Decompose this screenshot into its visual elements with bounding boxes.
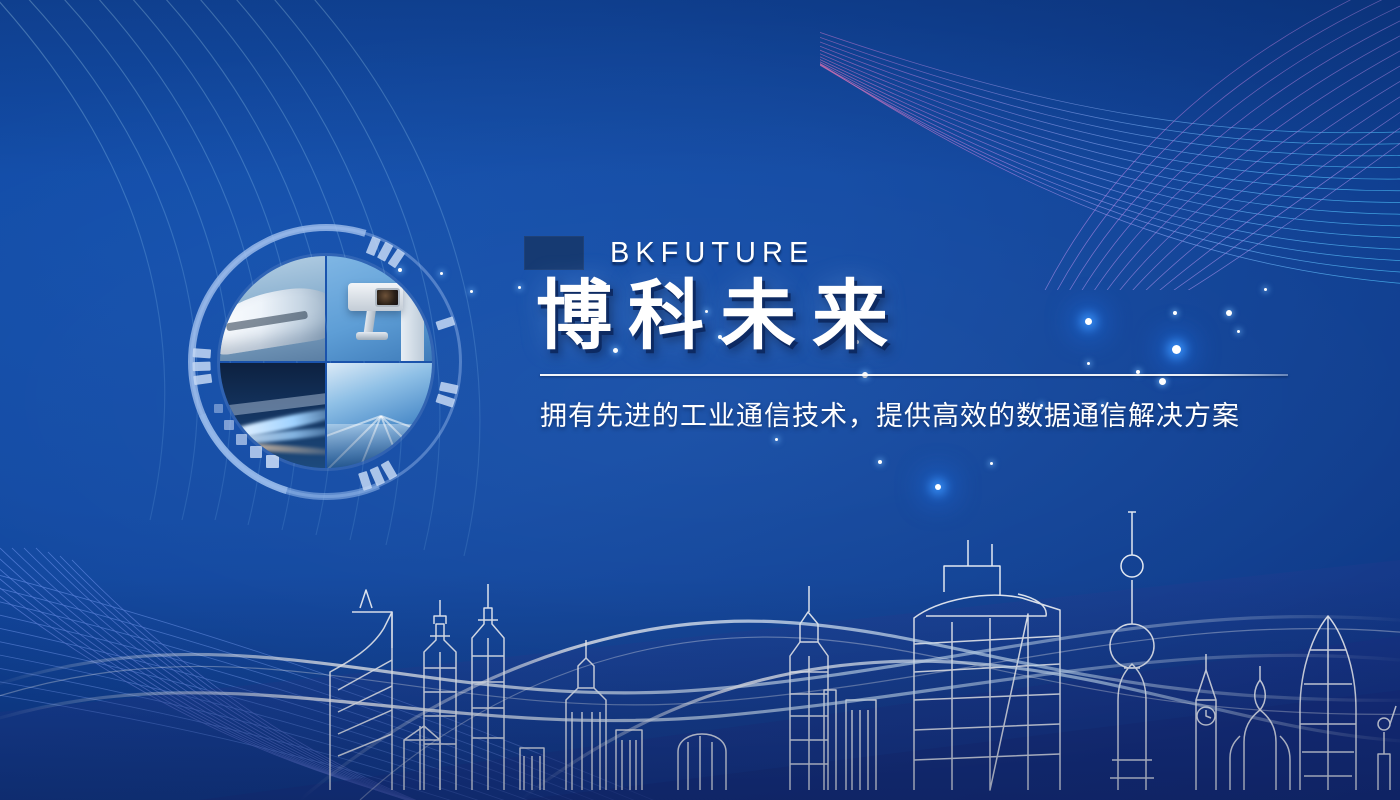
- brand-text-block: BKFUTURE 博科未来 拥有先进的工业通信技术，提供高效的数据通信解决方案: [524, 222, 1288, 433]
- brand-latin-name: BKFUTURE: [610, 237, 814, 270]
- light-ribbons-soft: [0, 629, 1400, 800]
- eyebrow-row: BKFUTURE: [524, 236, 1288, 270]
- photo-quadrant-cctv-camera: [327, 256, 432, 361]
- city-skyline-outline: [330, 512, 1396, 790]
- photo-quadrant-high-speed-train: [220, 256, 325, 361]
- brand-emblem: [186, 222, 466, 502]
- emblem-photo-collage: [220, 256, 432, 468]
- photo-quadrant-night-highway: [220, 363, 325, 468]
- brand-title-cn: 博科未来: [536, 276, 1288, 358]
- brand-subtitle-cn: 拥有先进的工业通信技术，提供高效的数据通信解决方案: [540, 394, 1288, 433]
- light-ribbons: [0, 617, 1400, 800]
- title-divider: [540, 374, 1288, 376]
- hero-content: BKFUTURE 博科未来 拥有先进的工业通信技术，提供高效的数据通信解决方案: [186, 222, 1306, 522]
- wave-mesh-bottom-left: [0, 548, 700, 800]
- photo-quadrant-blue-corridor: [327, 363, 432, 468]
- bottom-angled-bands: [0, 560, 1400, 800]
- hero-banner: BKFUTURE 博科未来 拥有先进的工业通信技术，提供高效的数据通信解决方案: [0, 0, 1400, 800]
- eyebrow-badge: [524, 236, 584, 270]
